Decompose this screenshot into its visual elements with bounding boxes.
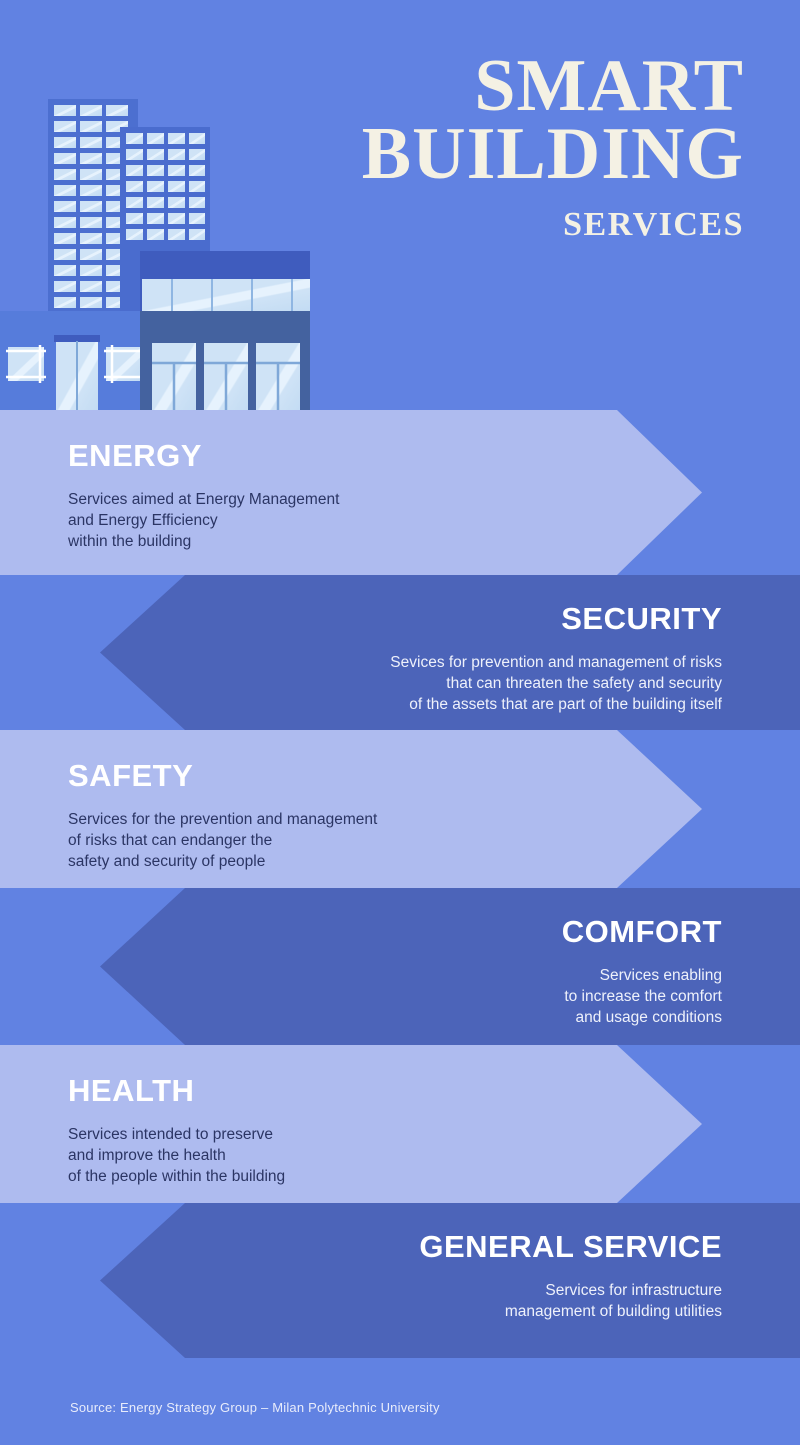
band-general-service: GENERAL SERVICE Services for infrastruct… bbox=[0, 1203, 800, 1358]
band-description-safety: Services for the prevention and manageme… bbox=[68, 793, 800, 873]
infographic-poster: SMART BUILDING SERVICES ENERGY Services … bbox=[0, 0, 800, 1445]
band-description-security: Sevices for prevention and management of… bbox=[0, 636, 722, 716]
band-title-energy: ENERGY bbox=[68, 410, 800, 473]
band-security: SECURITY Sevices for prevention and mana… bbox=[0, 575, 800, 730]
title-line-building: BUILDING bbox=[362, 120, 744, 188]
band-title-general-service: GENERAL SERVICE bbox=[0, 1203, 722, 1264]
band-content-health: HEALTH Services intended to preserve and… bbox=[0, 1045, 800, 1203]
smart-building-illustration bbox=[0, 85, 310, 415]
band-comfort: COMFORT Services enabling to increase th… bbox=[0, 888, 800, 1045]
band-description-comfort: Services enabling to increase the comfor… bbox=[0, 949, 722, 1029]
band-title-security: SECURITY bbox=[0, 575, 722, 636]
band-title-safety: SAFETY bbox=[68, 730, 800, 793]
band-energy: ENERGY Services aimed at Energy Manageme… bbox=[0, 410, 800, 575]
band-description-health: Services intended to preserve and improv… bbox=[68, 1108, 800, 1188]
band-title-comfort: COMFORT bbox=[0, 888, 722, 949]
band-title-health: HEALTH bbox=[68, 1045, 800, 1108]
band-content-safety: SAFETY Services for the prevention and m… bbox=[0, 730, 800, 888]
band-description-energy: Services aimed at Energy Management and … bbox=[68, 473, 800, 553]
band-description-general-service: Services for infrastructure management o… bbox=[0, 1264, 722, 1323]
band-content-security: SECURITY Sevices for prevention and mana… bbox=[0, 575, 800, 730]
title-line-smart: SMART bbox=[362, 52, 744, 120]
band-content-energy: ENERGY Services aimed at Energy Manageme… bbox=[0, 410, 800, 575]
title-subtitle-services: SERVICES bbox=[362, 206, 744, 244]
page-title: SMART BUILDING SERVICES bbox=[362, 52, 744, 244]
band-health: HEALTH Services intended to preserve and… bbox=[0, 1045, 800, 1203]
band-content-comfort: COMFORT Services enabling to increase th… bbox=[0, 888, 800, 1045]
source-credit: Source: Energy Strategy Group – Milan Po… bbox=[70, 1400, 440, 1415]
band-content-general-service: GENERAL SERVICE Services for infrastruct… bbox=[0, 1203, 800, 1358]
band-safety: SAFETY Services for the prevention and m… bbox=[0, 730, 800, 888]
